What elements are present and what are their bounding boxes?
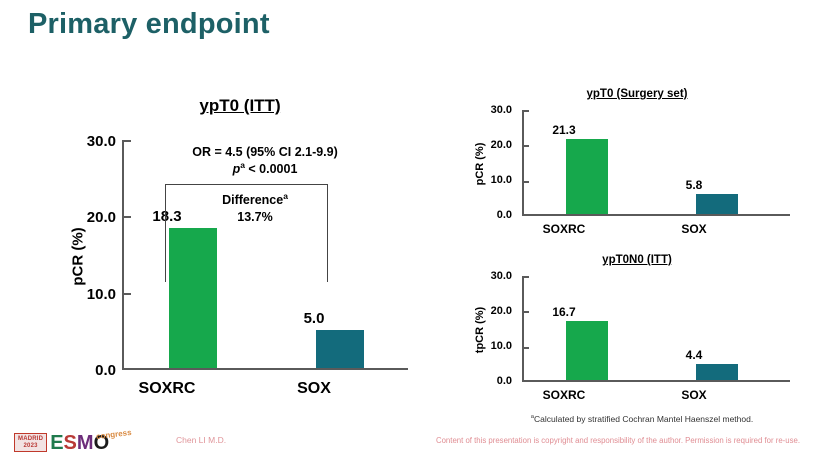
y-tick-mark-t0n0-20 [523, 311, 529, 313]
y-tick-mark-surgery-20 [523, 145, 529, 147]
y-tick-label-t0n0-30: 30.0 [464, 270, 512, 282]
copyright-notice: Content of this presentation is copyrigh… [406, 436, 830, 445]
congress-wordmark: congress [96, 428, 132, 441]
bar-soxrc-surgery [566, 139, 608, 214]
y-tick-label-surgery-20: 20.0 [464, 139, 512, 151]
statistical-method-footnote: aCalculated by stratified Cochran Mantel… [462, 414, 822, 424]
esmo-letter-s: S [64, 435, 77, 452]
esmo-wordmark: E S M O congress [50, 435, 109, 452]
page-title: Primary endpoint [28, 8, 270, 41]
esmo-congress-logo: MADRID 2023 E S M O congress [14, 426, 109, 452]
logo-year: 2023 [18, 443, 43, 449]
bar-value-sox-t0n0: 4.4 [673, 348, 715, 362]
esmo-letter-e: E [50, 435, 63, 452]
difference-label: Difference [222, 193, 283, 207]
difference-label-line: Differencea [200, 192, 310, 209]
difference-superscript: a [283, 191, 288, 201]
x-tick-label-soxrc-t0n0: SOXRC [529, 388, 599, 402]
chart-ypt0-itt: ypT0 (ITT) pCR (%) 30.0 20.0 10.0 0.0 18… [60, 96, 420, 406]
y-tick-label-surgery-30: 30.0 [464, 104, 512, 116]
plot-area-t0n0 [522, 276, 790, 382]
slide-canvas: Primary endpoint ypT0 (ITT) pCR (%) 30.0… [0, 0, 832, 468]
p-value-number: < 0.0001 [245, 162, 297, 176]
chart-title-surgery-set: ypT0 (Surgery set) [462, 88, 812, 100]
x-tick-label-sox-main: SOX [274, 380, 354, 398]
bar-value-soxrc-surgery: 21.3 [543, 123, 585, 137]
y-tick-mark-surgery-30 [523, 110, 529, 112]
y-tick-label-surgery-0: 0.0 [464, 209, 512, 221]
p-value-text: pa < 0.0001 [140, 161, 390, 178]
chart-title-ypt0-itt: ypT0 (ITT) [60, 96, 420, 116]
y-tick-label-t0n0-20: 20.0 [464, 305, 512, 317]
bar-soxrc-t0n0 [566, 321, 608, 380]
difference-annotation: Differencea 13.7% [200, 192, 310, 226]
y-tick-label-0: 0.0 [60, 362, 116, 379]
difference-value: 13.7% [200, 209, 310, 226]
y-tick-label-surgery-10: 10.0 [464, 174, 512, 186]
y-tick-label-20: 20.0 [60, 209, 116, 226]
x-tick-label-soxrc-main: SOXRC [127, 380, 207, 398]
y-tick-label-t0n0-0: 0.0 [464, 375, 512, 387]
y-tick-label-t0n0-10: 10.0 [464, 340, 512, 352]
x-tick-label-soxrc-surgery: SOXRC [529, 222, 599, 236]
bar-sox-main [316, 330, 364, 368]
y-tick-mark-10 [123, 293, 131, 295]
bar-sox-surgery [696, 194, 738, 214]
esmo-letter-m: M [77, 435, 94, 452]
x-tick-label-sox-surgery: SOX [659, 222, 729, 236]
chart-ypt0n0-itt: ypT0N0 (ITT) tpCR (%) 30.0 20.0 10.0 0.0… [462, 254, 812, 414]
x-tick-label-sox-t0n0: SOX [659, 388, 729, 402]
presenter-name: Chen LI M.D. [176, 435, 226, 445]
y-tick-mark-20 [123, 216, 131, 218]
chart-ypt0-surgery-set: ypT0 (Surgery set) pCR (%) 30.0 20.0 10.… [462, 88, 812, 248]
odds-ratio-text: OR = 4.5 (95% CI 2.1-9.9) [140, 144, 390, 161]
y-tick-mark-surgery-10 [523, 181, 529, 183]
bar-value-sox-surgery: 5.8 [673, 178, 715, 192]
bar-value-sox-main: 5.0 [290, 310, 338, 327]
y-tick-mark-t0n0-10 [523, 347, 529, 349]
chart-title-ypt0n0: ypT0N0 (ITT) [462, 254, 812, 266]
bar-sox-t0n0 [696, 364, 738, 380]
y-tick-label-30: 30.0 [60, 133, 116, 150]
y-tick-mark-t0n0-30 [523, 276, 529, 278]
y-tick-mark-30 [123, 140, 131, 142]
footnote-text: Calculated by stratified Cochran Mantel … [534, 414, 753, 424]
y-axis-label-main: pCR (%) [70, 217, 87, 297]
stat-annotation-main: OR = 4.5 (95% CI 2.1-9.9) pa < 0.0001 [140, 144, 390, 178]
y-tick-label-10: 10.0 [60, 286, 116, 303]
bar-value-soxrc-t0n0: 16.7 [543, 305, 585, 319]
madrid-2023-badge: MADRID 2023 [14, 433, 47, 452]
